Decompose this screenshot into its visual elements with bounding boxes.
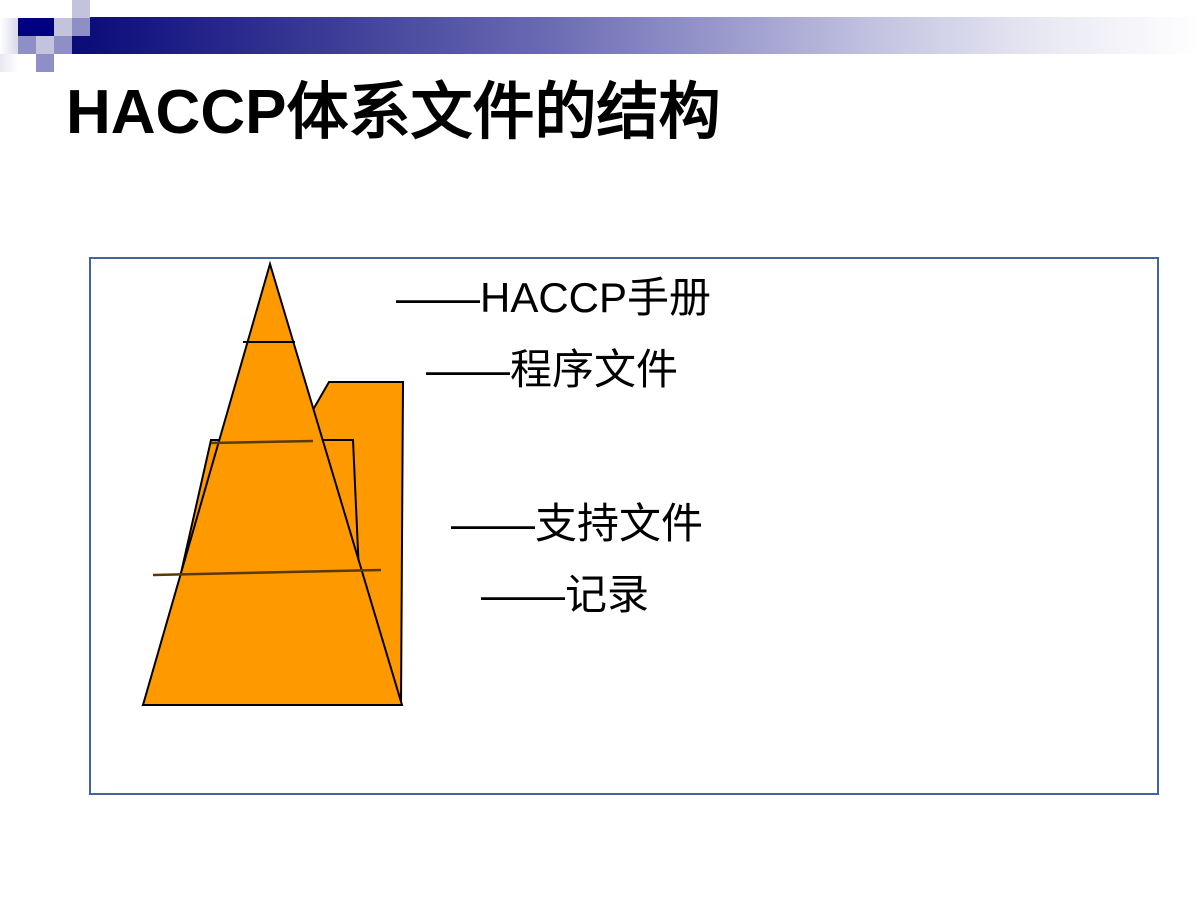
pyramid-divider-3 [153, 570, 381, 575]
label-procedure-documents: ——程序文件 [426, 349, 678, 391]
pyramid-level-4-record [143, 382, 403, 705]
content-frame: ——HACCP手册 ——程序文件 ——支持文件 ——记录 [89, 257, 1159, 795]
accent-square-mid-3 [54, 36, 72, 54]
accent-square-fade-2 [0, 36, 18, 54]
accent-square-mid-1 [18, 36, 36, 54]
accent-square-fade-1 [0, 18, 18, 36]
header-decoration [0, 0, 1200, 80]
page-title: HACCP体系文件的结构 [66, 82, 720, 144]
label-records: ——记录 [481, 574, 649, 616]
label-haccp-manual: ——HACCP手册 [396, 277, 711, 319]
label-support-documents: ——支持文件 [451, 503, 703, 545]
accent-square-light-1 [36, 36, 54, 54]
accent-square-light-3 [72, 0, 90, 18]
accent-square-mid-4 [72, 18, 90, 36]
accent-square-fade-3 [0, 54, 18, 72]
accent-square-light-2 [54, 18, 72, 36]
pyramid-divider-2 [211, 441, 313, 443]
pyramid-level-3-support [181, 440, 359, 573]
accent-square-mid-2 [36, 54, 54, 72]
accent-square-navy-1 [18, 18, 54, 36]
pyramid-outline [143, 264, 402, 705]
header-gradient-bar [72, 17, 1200, 54]
